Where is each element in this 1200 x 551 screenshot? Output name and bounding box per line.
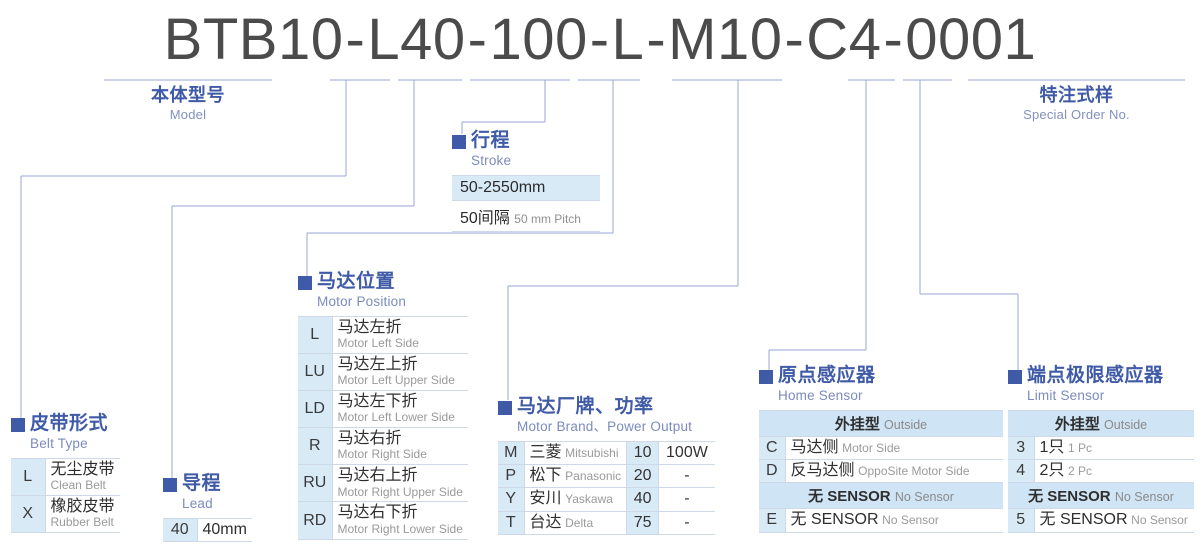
table-band-row: 无 SENSOR No Sensor: [759, 483, 1003, 509]
row-desc: 台达 Delta: [524, 511, 627, 534]
row-desc-en: Yaskawa: [565, 492, 613, 506]
row-desc: 无尘皮带 Clean Belt: [45, 458, 120, 495]
table-row[interactable]: T 台达 Delta 75 -: [498, 511, 715, 534]
row-desc-en: Motor Side: [842, 441, 900, 455]
row-code: 40: [163, 518, 197, 541]
row-code: M: [498, 441, 524, 464]
home-sensor-title-en: Home Sensor: [778, 389, 876, 403]
row-code: P: [498, 464, 524, 487]
band-outside-cn: 外挂型: [1055, 416, 1100, 433]
group-limit-sensor: 端点极限感应器 Limit Sensor 外挂型 Outside 3 1只 1 …: [1008, 366, 1194, 533]
table-row[interactable]: RD 马达右下折 Motor Right Lower Side: [298, 502, 468, 539]
table-row[interactable]: 4 2只 2 Pc: [1008, 459, 1194, 482]
code-dash-6: -: [881, 7, 905, 72]
group-model: 本体型号 Model: [104, 86, 272, 121]
table-row[interactable]: RU 马达右上折 Motor Right Upper Side: [298, 465, 468, 502]
table-row[interactable]: 50-2550mm: [452, 175, 600, 200]
belt-type-bullet-icon: [11, 418, 25, 432]
code-seg-home-sensor: C: [806, 7, 848, 72]
row-desc-cn: 马达左折: [338, 319, 463, 337]
belt-type-title-cn: 皮带形式: [30, 414, 108, 433]
table-row[interactable]: M 三菱 Mitsubishi 10 100W: [498, 441, 715, 464]
motor-position-title-cn: 马达位置: [317, 272, 406, 291]
row-desc: 2只 2 Pc: [1034, 459, 1194, 482]
row-code: LU: [298, 353, 332, 390]
row-desc-cn: 马达左上折: [338, 356, 463, 374]
row-desc-en: Mitsubishi: [565, 446, 618, 460]
row-code: C: [759, 436, 785, 459]
group-special-order: 特注式样 Special Order No.: [968, 86, 1185, 121]
stroke-pitch-cell: 50间隔 50 mm Pitch: [452, 200, 600, 231]
row-desc-en: Motor Left Side: [338, 337, 463, 351]
limit-sensor-title-cn: 端点极限感应器: [1027, 366, 1164, 385]
table-row[interactable]: X 橡胶皮带 Rubber Belt: [11, 495, 120, 532]
code-seg-model: BTB10: [164, 7, 344, 72]
table-row[interactable]: 5 无 SENSOR No Sensor: [1008, 509, 1194, 532]
stroke-title-en: Stroke: [471, 154, 511, 168]
table-row[interactable]: P 松下 Panasonic 20 -: [498, 464, 715, 487]
table-row[interactable]: 50间隔 50 mm Pitch: [452, 200, 600, 231]
row-desc-en: 1 Pc: [1068, 441, 1092, 455]
group-lead: 导程 Lead 40 40mm: [163, 474, 252, 542]
row-power-value: -: [659, 464, 715, 487]
limit-sensor-bullet-icon: [1008, 370, 1022, 384]
row-code: RU: [298, 465, 332, 502]
motor-brand-bullet-icon: [498, 401, 512, 415]
table-row[interactable]: L 马达左折 Motor Left Side: [298, 316, 468, 353]
motor-position-table: L 马达左折 Motor Left Side LU 马达左上折 Motor Le…: [298, 316, 468, 540]
row-desc-en: Delta: [565, 516, 593, 530]
code-seg-lead: 40: [400, 7, 466, 72]
row-desc-en: Motor Right Lower Side: [338, 523, 463, 537]
special-order-title-en: Special Order No.: [968, 108, 1185, 121]
code-seg-special-order: 0001: [905, 7, 1036, 72]
table-row[interactable]: LD 马达左下折 Motor Left Lower Side: [298, 390, 468, 427]
stroke-pitch-en: 50 mm Pitch: [514, 212, 581, 226]
product-code-diagram: BTB10-L40-100-L-M10-C4-0001: [0, 0, 1200, 551]
band-no-sensor-en: No Sensor: [895, 490, 954, 504]
stroke-pitch-cn: 50间隔: [460, 210, 510, 227]
belt-type-table: L 无尘皮带 Clean Belt X 橡胶皮带 Rubber Belt: [11, 458, 120, 533]
row-desc-cn: 2只: [1040, 462, 1065, 479]
row-desc-cn: 无尘皮带: [51, 461, 115, 479]
lead-bullet-icon: [163, 478, 177, 492]
row-code: T: [498, 511, 524, 534]
group-belt-type: 皮带形式 Belt Type L 无尘皮带 Clean Belt X 橡胶皮带 …: [11, 414, 120, 533]
row-desc: 马达右下折 Motor Right Lower Side: [332, 502, 468, 539]
table-row[interactable]: C 马达侧 Motor Side: [759, 436, 1003, 459]
group-motor-brand: 马达厂牌、功率 Motor Brand、Power Output M 三菱 Mi…: [498, 397, 715, 535]
row-desc-en: Motor Left Lower Side: [338, 411, 463, 425]
model-title-en: Model: [104, 108, 272, 121]
code-dash-4: -: [644, 7, 668, 72]
row-desc-cn: 马达右上折: [338, 467, 463, 485]
band-no-sensor-cn: 无 SENSOR: [808, 488, 891, 505]
row-desc-cn: 马达右下折: [338, 504, 463, 522]
table-row[interactable]: 3 1只 1 Pc: [1008, 436, 1194, 459]
stroke-title-cn: 行程: [471, 131, 511, 150]
row-power-code: 10: [627, 441, 659, 464]
row-code: E: [759, 509, 785, 532]
code-seg-belt-type: L: [367, 7, 400, 72]
row-desc-cn: 橡胶皮带: [51, 498, 115, 516]
row-desc: 无 SENSOR No Sensor: [1034, 509, 1194, 532]
motor-brand-table: M 三菱 Mitsubishi 10 100W P 松下 Panasonic 2…: [498, 441, 715, 536]
home-sensor-title-cn: 原点感应器: [778, 366, 876, 385]
table-row[interactable]: L 无尘皮带 Clean Belt: [11, 458, 120, 495]
product-code-string: BTB10-L40-100-L-M10-C4-0001: [0, 6, 1200, 73]
motor-brand-title-cn: 马达厂牌、功率: [517, 397, 692, 416]
row-code: Y: [498, 488, 524, 511]
row-power-code: 20: [627, 464, 659, 487]
row-desc: 马达左上折 Motor Left Upper Side: [332, 353, 468, 390]
band-no-sensor-cn: 无 SENSOR: [1028, 488, 1111, 505]
row-desc-en: Rubber Belt: [51, 516, 115, 530]
table-row[interactable]: 40 40mm: [163, 518, 252, 541]
band-no-sensor-en: No Sensor: [1115, 490, 1174, 504]
code-seg-motor-brand: M10: [668, 7, 782, 72]
code-dash-5: -: [782, 7, 806, 72]
row-desc-cn: 三菱: [530, 444, 562, 461]
row-code: 5: [1008, 509, 1034, 532]
code-seg-limit-sensor: 4: [849, 7, 882, 72]
row-desc: 橡胶皮带 Rubber Belt: [45, 495, 120, 532]
row-code: RD: [298, 502, 332, 539]
row-power-value: -: [659, 488, 715, 511]
row-desc-cn: 1只: [1040, 439, 1065, 456]
row-desc-en: No Sensor: [882, 513, 939, 527]
table-row[interactable]: Y 安川 Yaskawa 40 -: [498, 488, 715, 511]
row-desc-value: 40mm: [203, 521, 247, 538]
row-code: LD: [298, 390, 332, 427]
row-code: D: [759, 459, 785, 482]
model-title-cn: 本体型号: [104, 86, 272, 104]
row-desc-en: Motor Right Upper Side: [338, 486, 463, 500]
row-desc-en: Motor Left Upper Side: [338, 374, 463, 388]
lead-title-cn: 导程: [182, 474, 221, 493]
row-desc-en: No Sensor: [1131, 513, 1188, 527]
row-desc: 马达右上折 Motor Right Upper Side: [332, 465, 468, 502]
table-row[interactable]: D 反马达侧 OppoSite Motor Side: [759, 459, 1003, 482]
stroke-bullet-icon: [452, 135, 466, 149]
row-desc: 40mm: [197, 518, 252, 541]
stroke-range-cell: 50-2550mm: [452, 175, 600, 200]
table-band-row: 无 SENSOR No Sensor: [1008, 483, 1194, 509]
motor-position-bullet-icon: [298, 276, 312, 290]
band-outside-cn: 外挂型: [835, 416, 880, 433]
motor-position-title-en: Motor Position: [317, 295, 406, 309]
row-power-value: -: [659, 511, 715, 534]
code-dash-1: -: [344, 7, 368, 72]
row-code: X: [11, 495, 45, 532]
lead-table: 40 40mm: [163, 518, 252, 542]
band-no-sensor: 无 SENSOR No Sensor: [759, 483, 1003, 509]
row-desc-cn: 马达侧: [791, 439, 839, 456]
table-row[interactable]: E 无 SENSOR No Sensor: [759, 509, 1003, 532]
row-desc-cn: 安川: [530, 490, 562, 507]
home-sensor-table: 外挂型 Outside C 马达侧 Motor Side D 反马达侧 Oppo…: [759, 410, 1003, 533]
row-power-value: 100W: [659, 441, 715, 464]
belt-type-title-en: Belt Type: [30, 437, 108, 451]
table-band-row: 外挂型 Outside: [1008, 410, 1194, 436]
row-desc-cn: 无 SENSOR: [1040, 511, 1128, 528]
special-order-title-cn: 特注式样: [968, 86, 1185, 104]
row-desc: 无 SENSOR No Sensor: [785, 509, 1003, 532]
row-code: R: [298, 428, 332, 465]
row-desc-en: Panasonic: [565, 469, 621, 483]
row-desc: 马达左折 Motor Left Side: [332, 316, 468, 353]
row-desc-cn: 马达右折: [338, 430, 463, 448]
limit-sensor-table: 外挂型 Outside 3 1只 1 Pc 4 2只 2 Pc: [1008, 410, 1194, 533]
row-code: 4: [1008, 459, 1034, 482]
row-desc-en: 2 Pc: [1068, 464, 1092, 478]
home-sensor-bullet-icon: [759, 370, 773, 384]
code-seg-motor-position: L: [612, 7, 645, 72]
row-desc-en: Clean Belt: [51, 479, 115, 493]
row-desc-cn: 反马达侧: [791, 462, 855, 479]
row-code: L: [298, 316, 332, 353]
row-desc: 三菱 Mitsubishi: [524, 441, 627, 464]
row-code: 3: [1008, 436, 1034, 459]
group-motor-position: 马达位置 Motor Position L 马达左折 Motor Left Si…: [298, 272, 468, 540]
band-no-sensor: 无 SENSOR No Sensor: [1008, 483, 1194, 509]
row-desc: 马达侧 Motor Side: [785, 436, 1003, 459]
code-seg-stroke: 100: [489, 7, 587, 72]
row-desc: 安川 Yaskawa: [524, 488, 627, 511]
group-home-sensor: 原点感应器 Home Sensor 外挂型 Outside C 马达侧 Moto…: [759, 366, 1003, 533]
row-desc: 1只 1 Pc: [1034, 436, 1194, 459]
band-outside-en: Outside: [1104, 418, 1147, 432]
row-desc-cn: 无 SENSOR: [791, 511, 879, 528]
band-outside: 外挂型 Outside: [759, 410, 1003, 436]
row-desc-cn: 台达: [530, 514, 562, 531]
row-desc: 马达右折 Motor Right Side: [332, 428, 468, 465]
limit-sensor-title-en: Limit Sensor: [1027, 389, 1164, 403]
row-desc-cn: 马达左下折: [338, 393, 463, 411]
group-stroke: 行程 Stroke 50-2550mm 50间隔 50 mm Pitch: [452, 131, 600, 232]
row-power-code: 75: [627, 511, 659, 534]
row-power-code: 40: [627, 488, 659, 511]
motor-brand-title-en: Motor Brand、Power Output: [517, 420, 692, 434]
row-code: L: [11, 458, 45, 495]
row-desc: 马达左下折 Motor Left Lower Side: [332, 390, 468, 427]
band-outside: 外挂型 Outside: [1008, 410, 1194, 436]
table-row[interactable]: R 马达右折 Motor Right Side: [298, 428, 468, 465]
table-row[interactable]: LU 马达左上折 Motor Left Upper Side: [298, 353, 468, 390]
row-desc-en: OppoSite Motor Side: [858, 464, 969, 478]
row-desc: 松下 Panasonic: [524, 464, 627, 487]
stroke-table: 50-2550mm 50间隔 50 mm Pitch: [452, 175, 600, 232]
code-dash-3: -: [588, 7, 612, 72]
row-desc-en: Motor Right Side: [338, 448, 463, 462]
lead-title-en: Lead: [182, 497, 221, 511]
band-outside-en: Outside: [884, 418, 927, 432]
row-desc-cn: 松下: [530, 467, 562, 484]
code-dash-2: -: [466, 7, 490, 72]
row-desc: 反马达侧 OppoSite Motor Side: [785, 459, 1003, 482]
table-band-row: 外挂型 Outside: [759, 410, 1003, 436]
